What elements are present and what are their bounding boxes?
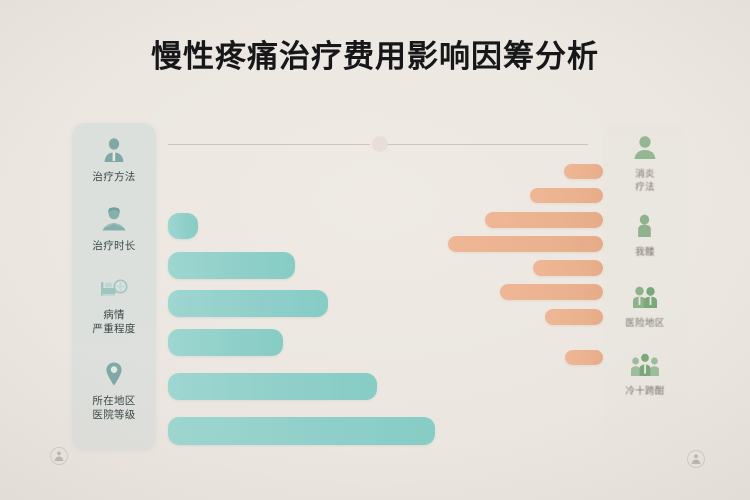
watermark-left (50, 447, 68, 465)
right-category-panel: 消炎 疗法 我髅 医险地区 冷十跨酣 (603, 123, 687, 450)
bar-right-3[interactable] (485, 212, 603, 228)
bar-right-1[interactable] (564, 164, 603, 179)
location-pin-icon (99, 361, 129, 387)
person-care-icon (99, 206, 129, 232)
right-category-item-1[interactable]: 消炎 疗法 (603, 135, 687, 194)
left-category-label-2: 治疗时长 (72, 239, 156, 253)
bar-right-5[interactable] (533, 260, 603, 276)
right-category-label-4: 冷十跨酣 (603, 385, 687, 398)
person-circle-icon (51, 448, 67, 464)
divider-center-dot (372, 136, 388, 152)
left-category-panel: 治疗方法 治疗时长 病情 严重程度 所在地区 医院等级 (72, 123, 156, 450)
bar-left-1[interactable] (168, 213, 198, 239)
left-category-item-3[interactable]: 病情 严重程度 (72, 275, 156, 336)
person-bust-icon (630, 135, 660, 161)
left-category-label-4: 所在地区 医院等级 (72, 394, 156, 422)
right-category-label-3: 医险地区 (603, 317, 687, 330)
two-people-icon (630, 284, 660, 310)
person-solid-icon (630, 213, 660, 239)
bar-left-6[interactable] (168, 417, 435, 445)
left-category-item-4[interactable]: 所在地区 医院等级 (72, 361, 156, 422)
right-category-label-2: 我髅 (603, 246, 687, 259)
divider-rule-right (388, 144, 588, 145)
watermark-right (687, 450, 705, 468)
left-category-item-2[interactable]: 治疗时长 (72, 206, 156, 253)
left-category-item-1[interactable]: 治疗方法 (72, 137, 156, 184)
bar-left-4[interactable] (168, 329, 283, 356)
left-category-label-1: 治疗方法 (72, 170, 156, 184)
right-category-item-3[interactable]: 医险地区 (603, 284, 687, 330)
person-bust-icon (99, 137, 129, 163)
right-category-item-2[interactable]: 我髅 (603, 213, 687, 259)
chart-canvas: 慢性疼痛治疗费用影响因筹分析 治疗方法 治疗时长 病情 严重程度 (0, 0, 750, 500)
bar-left-3[interactable] (168, 290, 328, 317)
divider-rule-left (168, 144, 370, 145)
left-category-label-3: 病情 严重程度 (72, 308, 156, 336)
bar-right-4[interactable] (448, 236, 603, 252)
bar-right-8[interactable] (565, 350, 603, 365)
bar-right-2[interactable] (530, 188, 603, 203)
group-people-icon (630, 352, 660, 378)
hospital-bed-icon (99, 275, 129, 301)
person-circle-icon (688, 451, 704, 467)
bar-right-7[interactable] (545, 309, 603, 325)
bar-right-6[interactable] (500, 284, 603, 300)
bar-left-5[interactable] (168, 373, 377, 400)
right-category-item-4[interactable]: 冷十跨酣 (603, 352, 687, 398)
right-category-label-1: 消炎 疗法 (603, 168, 687, 194)
page-title: 慢性疼痛治疗费用影响因筹分析 (0, 36, 750, 78)
bar-left-2[interactable] (168, 252, 295, 279)
